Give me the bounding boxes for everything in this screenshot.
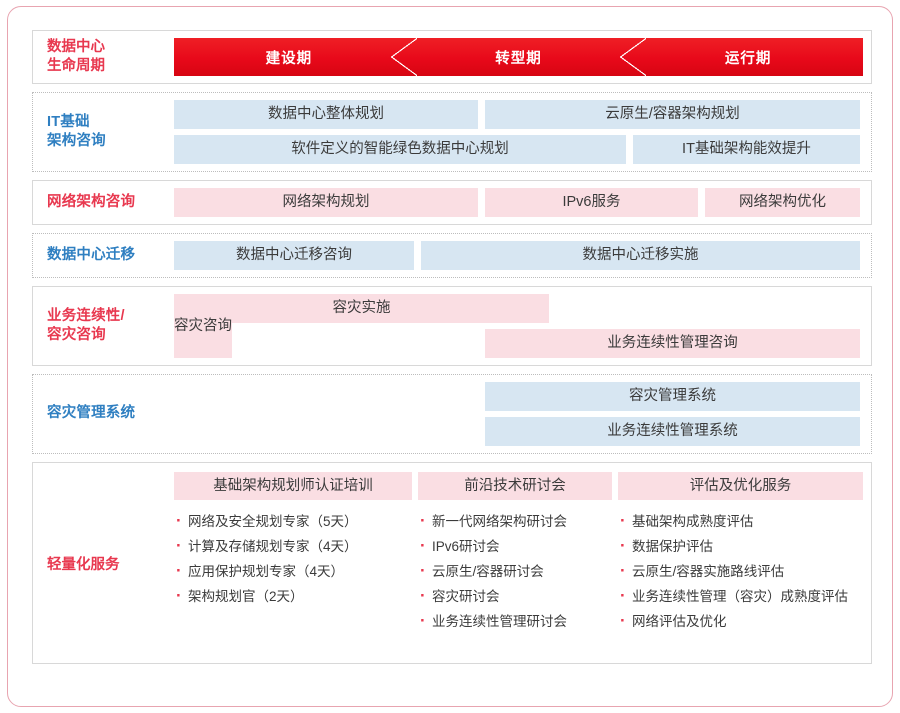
lifecycle-row-label: 数据中心 生命周期 [33,38,174,76]
list-item[interactable]: 云原生/容器研讨会 [418,559,612,584]
list-item[interactable]: 网络评估及优化 [618,609,863,634]
list-item[interactable]: 业务连续性管理研讨会 [418,609,612,634]
service-rows-container: IT基础架构咨询数据中心整体规划云原生/容器架构规划软件定义的智能绿色数据中心规… [32,92,872,454]
row-label-line2: 容灾咨询 [47,326,174,345]
row-body-data-center-migration: 数据中心迁移咨询数据中心迁移实施 [174,234,871,277]
service-row-dr-management-system: 容灾管理系统容灾管理系统业务连续性管理系统 [32,374,872,454]
lifecycle-phase-operate[interactable]: 运行期 [633,38,863,76]
lifecycle-row: 数据中心 生命周期 建设期 转型期 运行期 [32,30,872,84]
lightweight-services-columns: 基础架构规划师认证培训网络及安全规划专家（5天）计算及存储规划专家（4天）应用保… [174,463,871,663]
row-label-text: 网络架构咨询 [47,193,174,212]
lightweight-item-list: 网络及安全规划专家（5天）计算及存储规划专家（4天）应用保护规划专家（4天）架构… [174,509,412,609]
row-label-line2: 架构咨询 [47,132,174,151]
lifecycle-phase-bar: 建设期 转型期 运行期 [174,38,863,76]
list-item[interactable]: 容灾研讨会 [418,584,612,609]
service-row-network-architecture-consulting: 网络架构咨询网络架构规划IPv6服务网络架构优化 [32,180,872,225]
list-item[interactable]: 云原生/容器实施路线评估 [618,559,863,584]
service-cell[interactable]: 网络架构规划 [174,188,478,217]
service-matrix: 数据中心 生命周期 建设期 转型期 运行期 IT基础架构咨询数据中心整体规划云原… [32,30,872,680]
row-label-text: 容灾管理系统 [47,404,174,423]
service-cell-spacer [174,382,478,411]
list-item[interactable]: 数据保护评估 [618,534,863,559]
list-item[interactable]: 网络及安全规划专家（5天） [174,509,412,534]
lifecycle-label-line2: 生命周期 [47,57,174,76]
list-item[interactable]: 基础架构成熟度评估 [618,509,863,534]
row-body-business-continuity-dr-consulting: 容灾咨询容灾实施业务连续性管理咨询 [174,287,871,365]
lifecycle-phase-build-label: 建设期 [266,47,313,68]
service-subrow: 数据中心迁移咨询数据中心迁移实施 [174,241,864,270]
service-subrow: 容灾管理系统 [174,382,864,411]
service-cell[interactable]: 云原生/容器架构规划 [485,100,860,129]
service-subrow: 网络架构规划IPv6服务网络架构优化 [174,188,864,217]
list-item[interactable]: 应用保护规划专家（4天） [174,559,412,584]
service-cell[interactable]: 数据中心迁移实施 [421,241,860,270]
service-subrow: 容灾咨询容灾实施 [174,294,864,323]
lifecycle-label-line1: 数据中心 [47,38,174,57]
service-cell[interactable]: 软件定义的智能绿色数据中心规划 [174,135,626,164]
service-cell[interactable]: 网络架构优化 [705,188,860,217]
list-item[interactable]: 新一代网络架构研讨会 [418,509,612,534]
service-cell[interactable]: IT基础架构能效提升 [633,135,860,164]
lifecycle-phase-transform-label: 转型期 [495,47,542,68]
row-label-it-infra-consulting: IT基础架构咨询 [33,93,174,171]
list-item[interactable]: IPv6研讨会 [418,534,612,559]
row-label-text: 数据中心迁移 [47,246,174,265]
service-row-data-center-migration: 数据中心迁移数据中心迁移咨询数据中心迁移实施 [32,233,872,278]
service-cell[interactable]: IPv6服务 [485,188,698,217]
service-subrow: 数据中心整体规划云原生/容器架构规划 [174,100,864,129]
row-body-network-architecture-consulting: 网络架构规划IPv6服务网络架构优化 [174,181,871,224]
list-item[interactable]: 架构规划官（2天） [174,584,412,609]
lightweight-column-header[interactable]: 基础架构规划师认证培训 [174,472,412,500]
lifecycle-phase-transform[interactable]: 转型期 [404,38,634,76]
lightweight-services-row: 轻量化服务 基础架构规划师认证培训网络及安全规划专家（5天）计算及存储规划专家（… [32,462,872,664]
row-label-dr-management-system: 容灾管理系统 [33,375,174,453]
row-label-line1: 业务连续性/ [47,307,174,326]
service-cell[interactable]: 数据中心整体规划 [174,100,478,129]
lightweight-item-list: 新一代网络架构研讨会IPv6研讨会云原生/容器研讨会容灾研讨会业务连续性管理研讨… [418,509,612,634]
service-subrow: 业务连续性管理系统 [174,417,864,446]
lightweight-column-assessment-optimization: 评估及优化服务基础架构成熟度评估数据保护评估云原生/容器实施路线评估业务连续性管… [618,472,863,654]
lightweight-services-label: 轻量化服务 [33,463,174,663]
service-cell[interactable]: 容灾咨询 [174,294,232,358]
infographic-page: 数据中心 生命周期 建设期 转型期 运行期 IT基础架构咨询数据中心整体规划云原… [0,0,900,713]
service-subrow: 业务连续性管理咨询 [174,329,864,358]
lifecycle-phase-operate-label: 运行期 [725,47,772,68]
list-item[interactable]: 计算及存储规划专家（4天） [174,534,412,559]
service-cell[interactable]: 业务连续性管理咨询 [485,329,860,358]
lightweight-column-certification-training: 基础架构规划师认证培训网络及安全规划专家（5天）计算及存储规划专家（4天）应用保… [174,472,412,654]
service-cell[interactable]: 业务连续性管理系统 [485,417,860,446]
service-row-it-infra-consulting: IT基础架构咨询数据中心整体规划云原生/容器架构规划软件定义的智能绿色数据中心规… [32,92,872,172]
row-label-business-continuity-dr-consulting: 业务连续性/容灾咨询 [33,287,174,365]
lightweight-column-technology-seminars: 前沿技术研讨会新一代网络架构研讨会IPv6研讨会云原生/容器研讨会容灾研讨会业务… [418,472,612,654]
service-cell-spacer [174,417,478,446]
service-row-business-continuity-dr-consulting: 业务连续性/容灾咨询容灾咨询容灾实施业务连续性管理咨询 [32,286,872,366]
lightweight-item-list: 基础架构成熟度评估数据保护评估云原生/容器实施路线评估业务连续性管理（容灾）成熟… [618,509,863,634]
list-item[interactable]: 业务连续性管理（容灾）成熟度评估 [618,584,863,609]
row-label-network-architecture-consulting: 网络架构咨询 [33,181,174,224]
lightweight-column-header[interactable]: 前沿技术研讨会 [418,472,612,500]
row-body-dr-management-system: 容灾管理系统业务连续性管理系统 [174,375,871,453]
row-label-data-center-migration: 数据中心迁移 [33,234,174,277]
lightweight-column-header[interactable]: 评估及优化服务 [618,472,863,500]
lifecycle-phase-build[interactable]: 建设期 [174,38,404,76]
service-cell[interactable]: 容灾管理系统 [485,382,860,411]
service-cell[interactable]: 数据中心迁移咨询 [174,241,414,270]
row-body-it-infra-consulting: 数据中心整体规划云原生/容器架构规划软件定义的智能绿色数据中心规划IT基础架构能… [174,93,871,171]
row-label-line1: IT基础 [47,113,174,132]
service-subrow: 软件定义的智能绿色数据中心规划IT基础架构能效提升 [174,135,864,164]
